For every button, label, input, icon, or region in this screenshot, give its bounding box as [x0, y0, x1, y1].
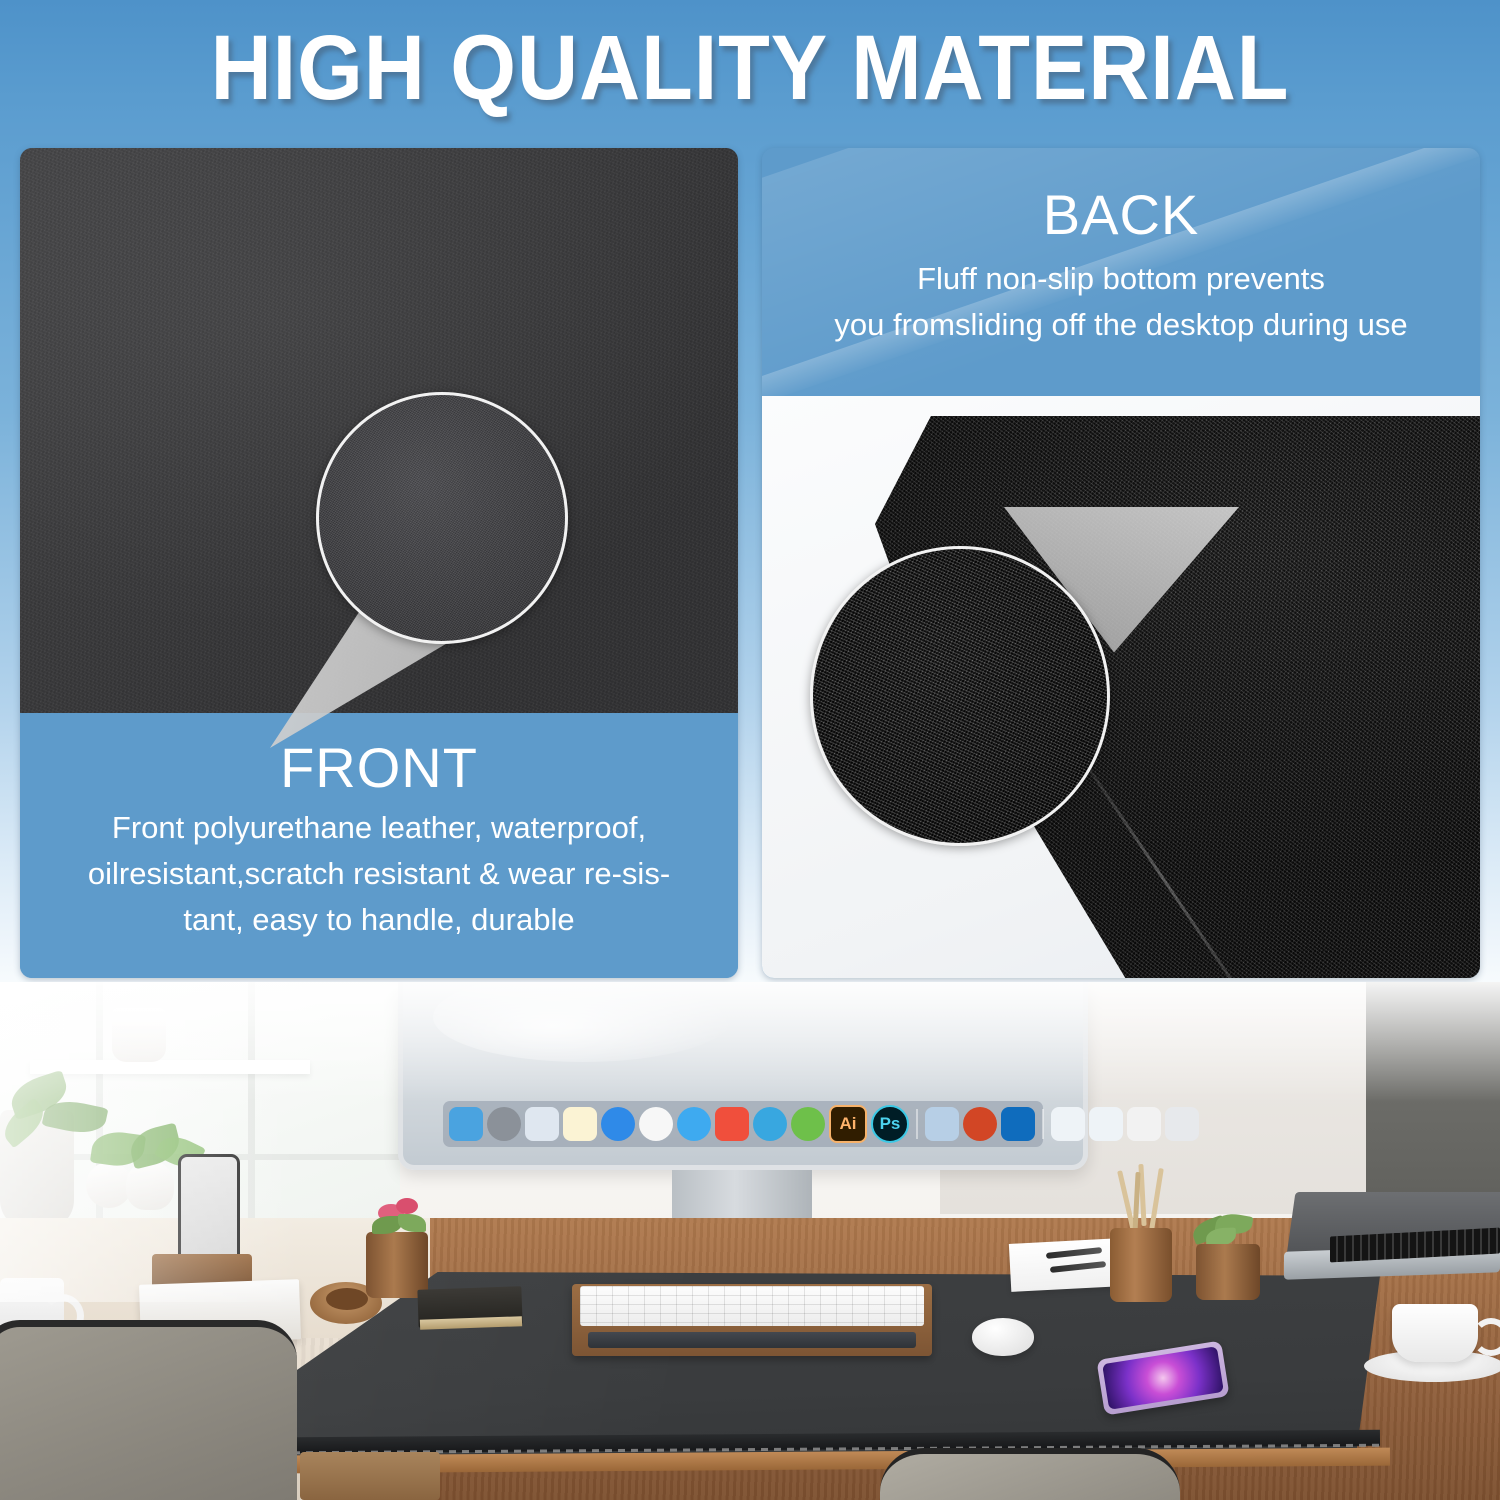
flower [396, 1198, 418, 1214]
telegram-icon[interactable] [753, 1107, 787, 1141]
shelf-pot [112, 1008, 166, 1062]
office-chair-left [0, 1320, 297, 1500]
photos-icon[interactable] [639, 1107, 673, 1141]
back-panel: BACK Fluff non-slip bottom prevents you … [762, 148, 1480, 978]
outlook-icon[interactable] [1001, 1107, 1035, 1141]
spreadsheet-icon[interactable] [1089, 1107, 1123, 1141]
small-pot [126, 1160, 174, 1210]
front-caption-band: FRONT Front polyurethane leather, waterp… [20, 713, 738, 978]
xmind-icon[interactable] [715, 1107, 749, 1141]
page-title: HIGH QUALITY MATERIAL [60, 14, 1440, 122]
powerpoint-icon[interactable] [963, 1107, 997, 1141]
imac-monitor: AiPs [398, 982, 1088, 1170]
photoshop-icon[interactable]: Ps [871, 1105, 909, 1143]
lifestyle-photo: AiPs [0, 982, 1500, 1500]
chair-leg [300, 1452, 440, 1500]
office-chair-right [880, 1448, 1180, 1500]
wechat-icon[interactable] [791, 1107, 825, 1141]
wooden-planter-left [366, 1232, 428, 1298]
wall-shelf [30, 1060, 310, 1074]
front-caption-title: FRONT [20, 713, 738, 797]
white-mouse [972, 1318, 1034, 1356]
screen-glare [433, 982, 733, 1062]
front-magnifier-circle [316, 392, 568, 644]
product-infographic: HIGH QUALITY MATERIAL FRONT Front polyur… [0, 0, 1500, 1500]
finder-icon[interactable] [449, 1107, 483, 1141]
coaster-well [326, 1288, 368, 1310]
front-caption-line-2: oilresistant,scratch resistant & wear re… [42, 851, 716, 897]
document-icon[interactable] [1127, 1107, 1161, 1141]
smartphone-on-stand [178, 1154, 240, 1266]
back-caption-line-2: you fromsliding off the desktop during u… [762, 302, 1480, 348]
dock-separator [916, 1109, 918, 1139]
back-caption-title: BACK [762, 148, 1480, 244]
apple-keyboard [580, 1286, 924, 1326]
front-panel: FRONT Front polyurethane leather, waterp… [20, 148, 738, 978]
back-caption-band: BACK Fluff non-slip bottom prevents you … [762, 148, 1480, 396]
excel-doc-icon[interactable] [1051, 1107, 1085, 1141]
safari-icon[interactable] [677, 1107, 711, 1141]
app-store-icon[interactable] [601, 1107, 635, 1141]
wooden-pen-holder [1110, 1228, 1172, 1302]
front-caption-line-1: Front polyurethane leather, waterproof, [42, 805, 716, 851]
wrist-rest [588, 1332, 916, 1348]
back-fleece-photo [762, 396, 1480, 978]
macos-dock[interactable]: AiPs [443, 1101, 1043, 1147]
illustrator-icon[interactable]: Ai [829, 1105, 867, 1143]
dock-separator [1042, 1109, 1044, 1139]
trash-icon[interactable] [1165, 1107, 1199, 1141]
coffee-cup [1392, 1304, 1478, 1362]
front-caption-body: Front polyurethane leather, waterproof, … [20, 797, 738, 943]
back-caption-line-1: Fluff non-slip bottom prevents [762, 256, 1480, 302]
publisher-icon[interactable] [925, 1107, 959, 1141]
notes-icon[interactable] [563, 1107, 597, 1141]
preview-icon[interactable] [525, 1107, 559, 1141]
front-caption-line-3: tant, easy to handle, durable [42, 897, 716, 943]
back-caption-body: Fluff non-slip bottom prevents you froms… [762, 244, 1480, 348]
system-settings-icon[interactable] [487, 1107, 521, 1141]
wooden-planter-right [1196, 1244, 1260, 1300]
back-magnifier-circle [810, 546, 1110, 846]
